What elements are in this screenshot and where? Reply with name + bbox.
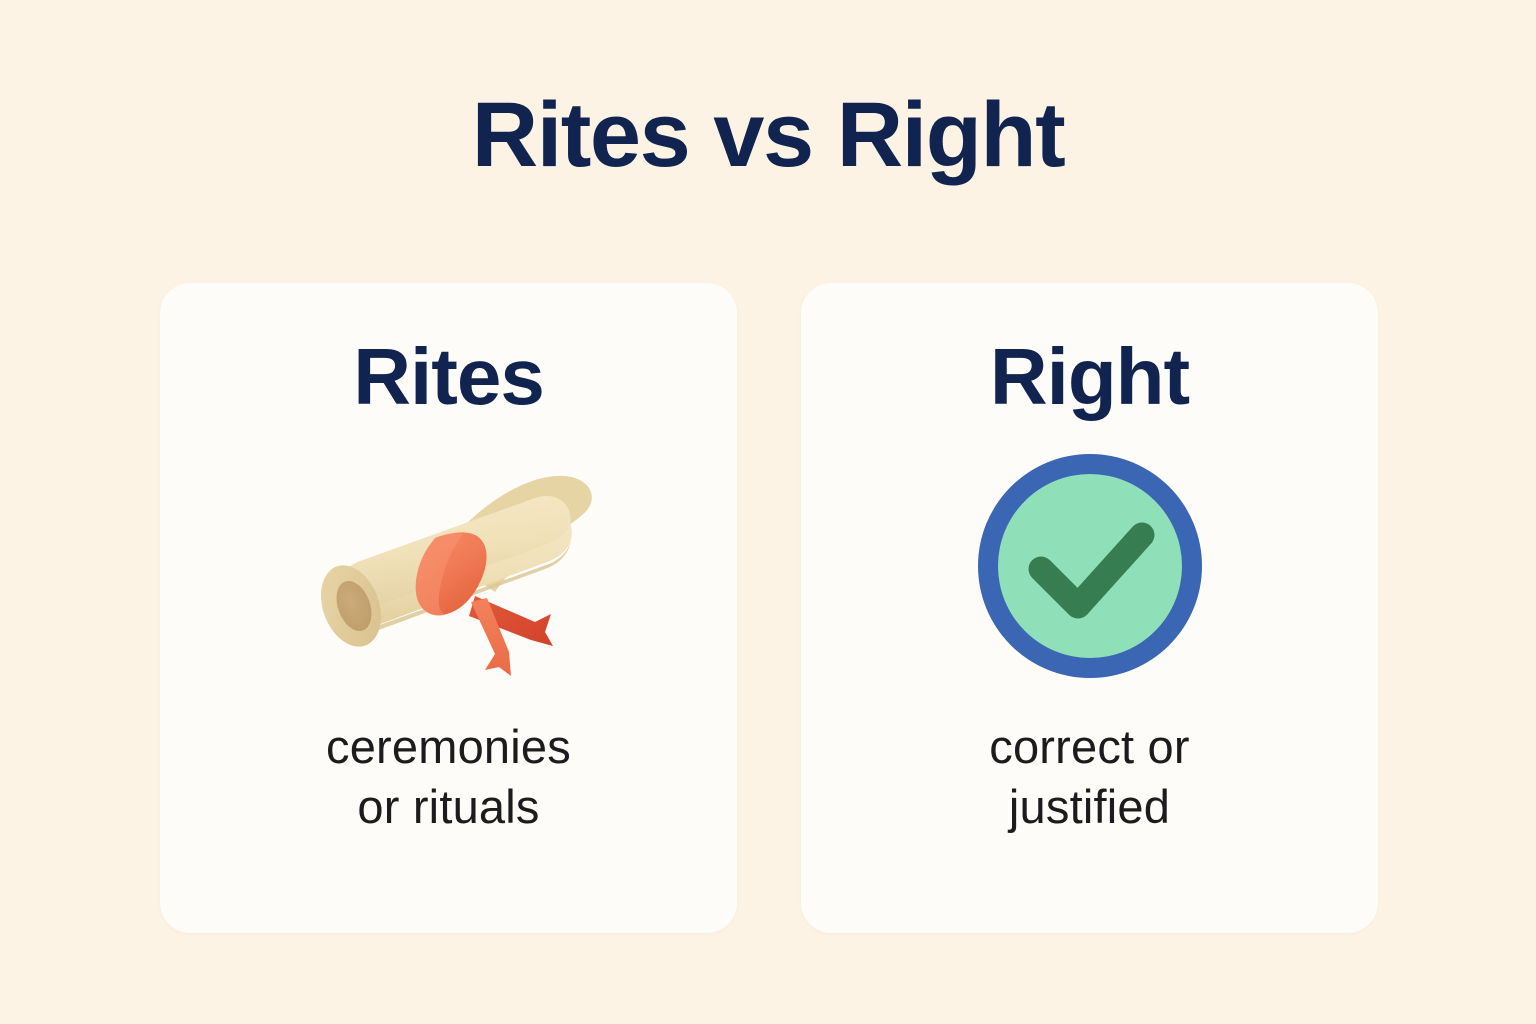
card-right-icon-wrap [970, 441, 1210, 691]
card-right[interactable]: Right correct or justified [801, 283, 1378, 933]
card-rites-description: ceremonies or rituals [326, 717, 571, 837]
check-circle-icon [970, 446, 1210, 686]
card-rites[interactable]: Rites [160, 283, 737, 933]
comparison-cards-row: Rites [160, 283, 1378, 933]
page-title: Rites vs Right [0, 86, 1536, 185]
diploma-scroll-icon [299, 446, 599, 686]
card-rites-icon-wrap [299, 441, 599, 691]
card-right-description: correct or justified [989, 717, 1190, 837]
card-rites-title: Rites [353, 335, 544, 419]
card-right-title: Right [990, 335, 1189, 419]
infographic-root: Rites vs Right Rites [0, 0, 1536, 1024]
